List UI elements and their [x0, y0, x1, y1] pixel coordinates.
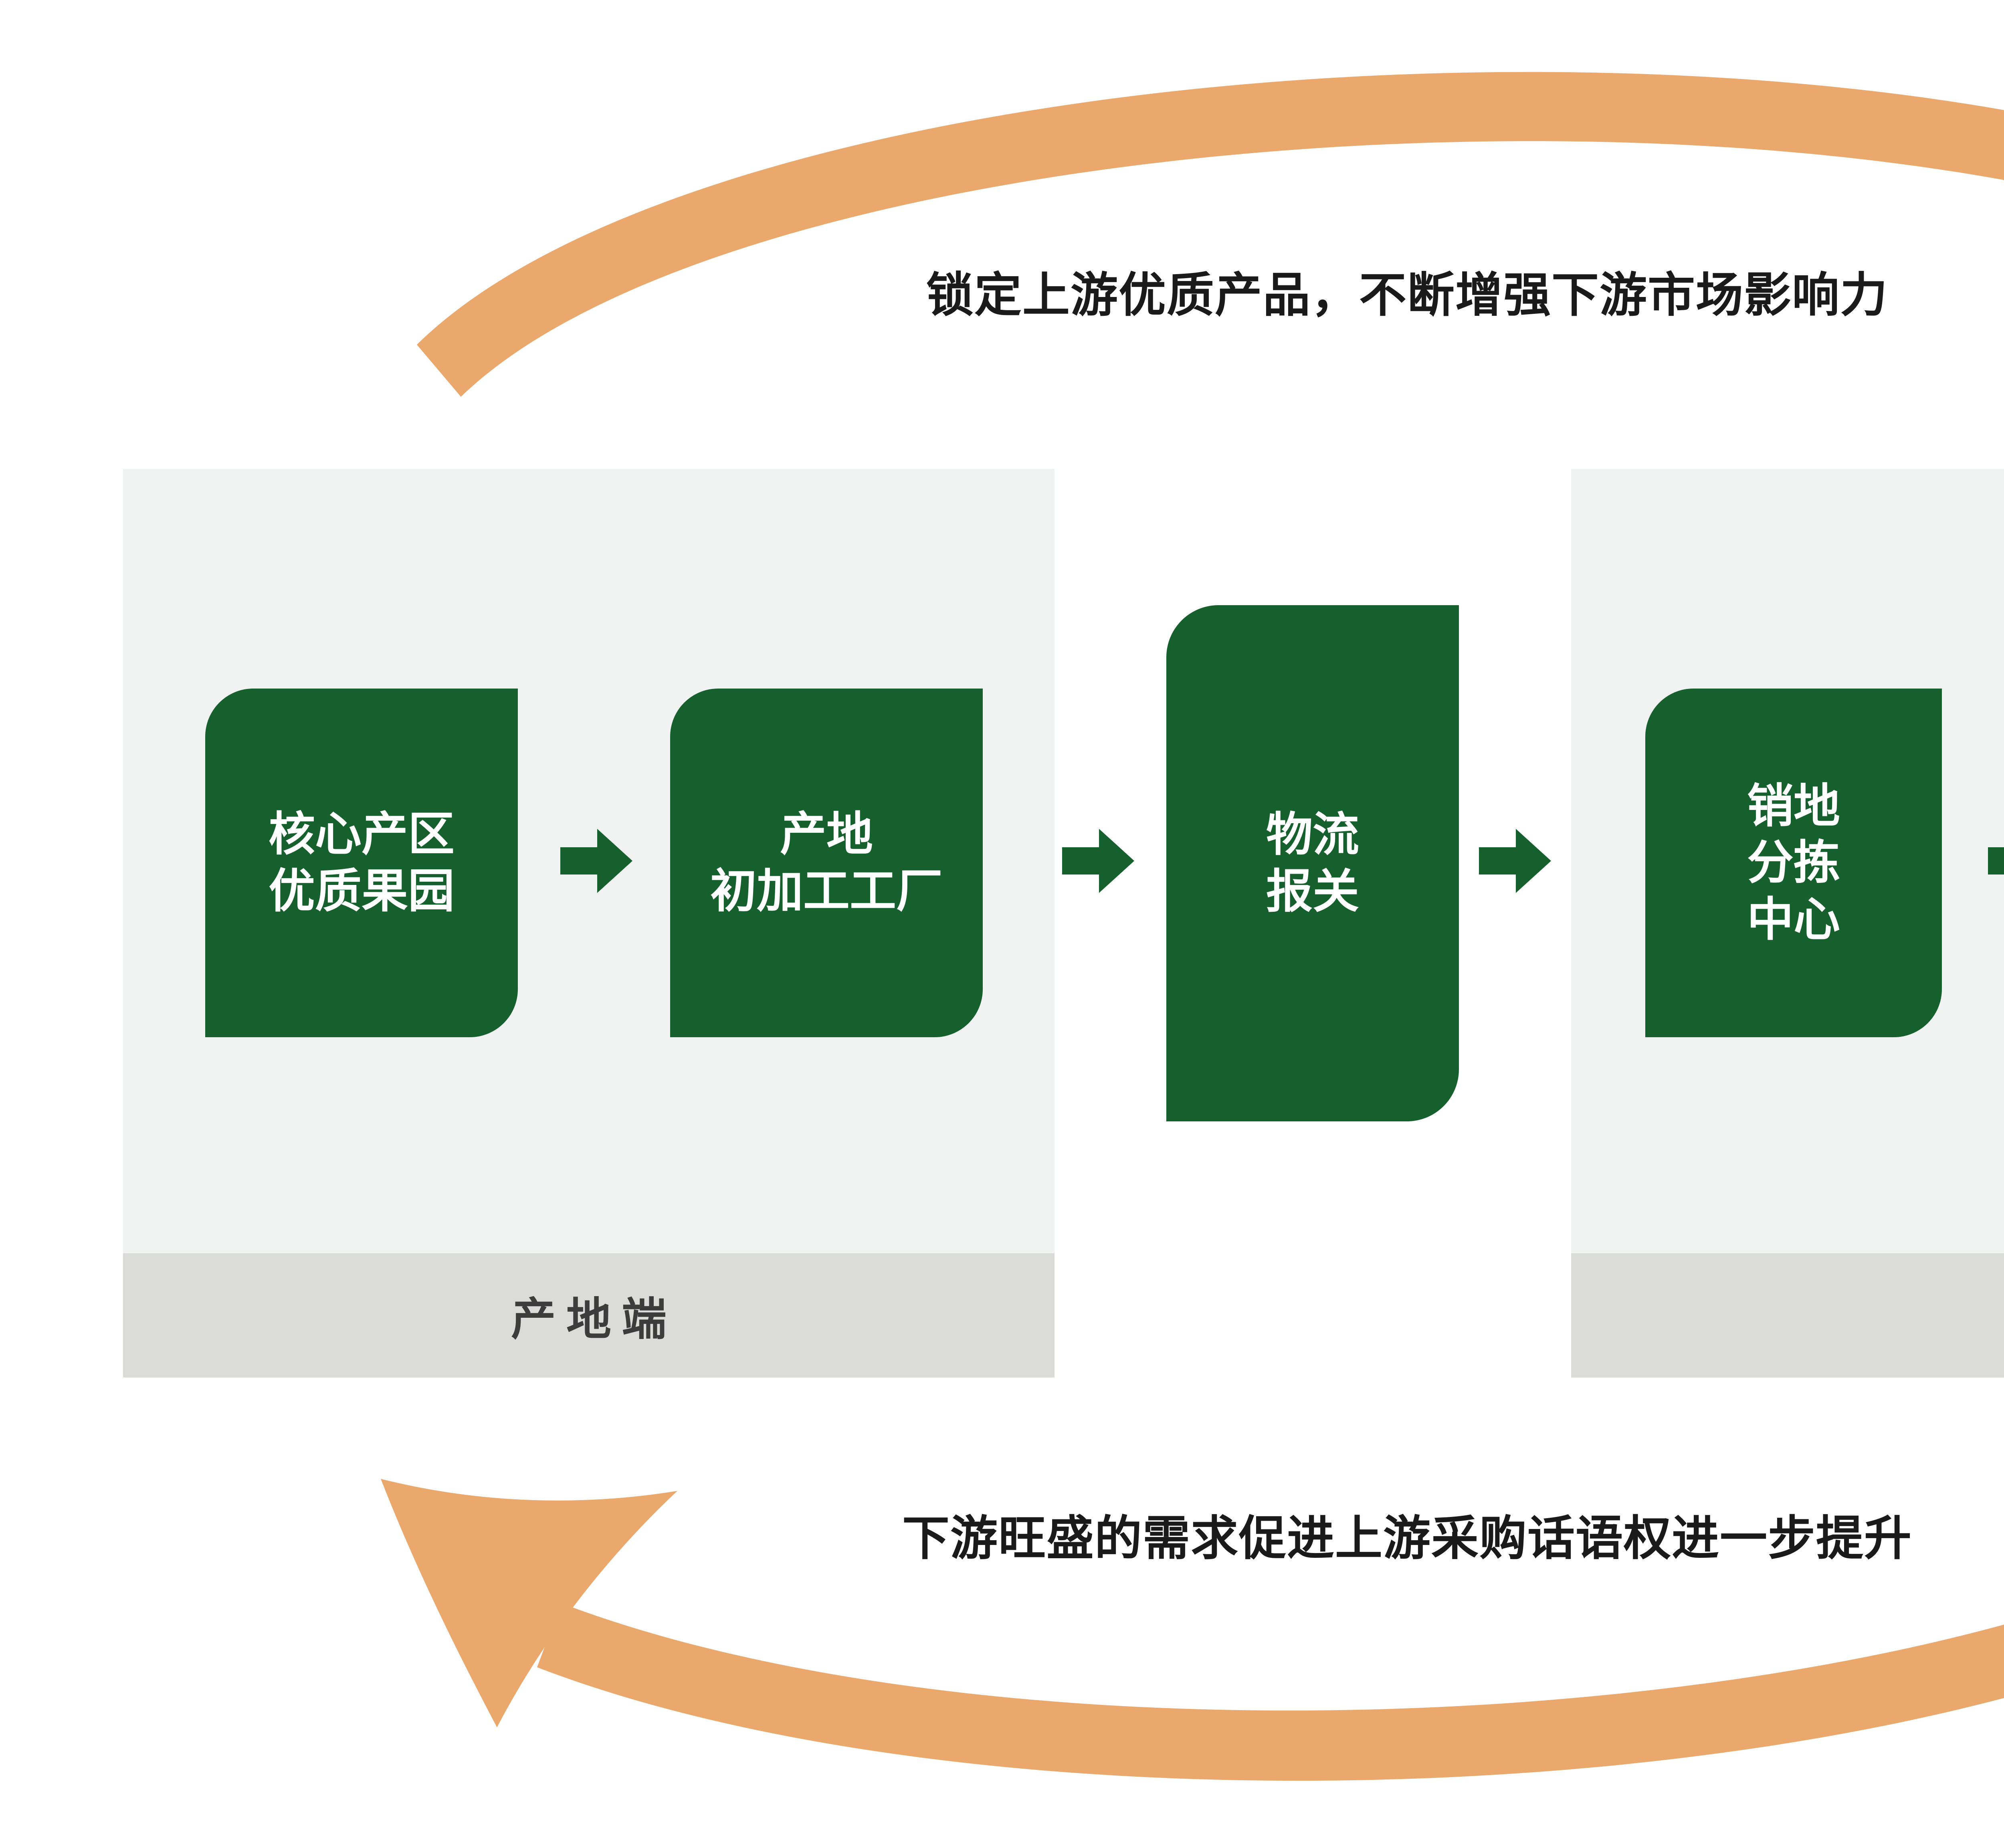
- right-arrow-icon: [1988, 829, 2004, 893]
- top-loop-caption: 锁定上游优质产品，不断增强下游市场影响力: [0, 256, 2004, 325]
- origin-panel-label: 产地端: [501, 1283, 677, 1348]
- right-arrow-icon: [1479, 829, 1551, 893]
- node-sorting-line3: 中心: [1747, 891, 1840, 948]
- origin-panel-footer: 产地端: [123, 1253, 1055, 1377]
- bottom-loop-caption: 下游旺盛的需求促进上游采购话语权进一步提升: [0, 1500, 2004, 1568]
- right-arrow-icon: [1062, 829, 1134, 893]
- node-sales-sorting-center[interactable]: 销地 分拣 中心: [1645, 689, 1942, 1037]
- node-primary-processing-factory[interactable]: 产地 初加工工厂: [670, 689, 983, 1037]
- node-factory-line1: 产地: [780, 806, 873, 863]
- node-logistics-line1: 物流: [1266, 806, 1359, 863]
- node-logistics-line2: 报关: [1266, 863, 1359, 920]
- supply-chain-diagram: 锁定上游优质产品，不断增强下游市场影响力 下游旺盛的需求促进上游采购话语权进一步…: [0, 0, 2004, 1848]
- node-sorting-line1: 销地: [1747, 778, 1840, 835]
- right-arrow-icon: [560, 829, 632, 893]
- curved-arrow-right-icon: [417, 72, 2004, 397]
- node-logistics-customs[interactable]: 物流 报关: [1166, 605, 1459, 1121]
- node-sorting-line2: 分拣: [1747, 834, 1840, 891]
- node-factory-line2: 初加工工厂: [710, 863, 943, 920]
- sales-panel-footer: 销地端: [1571, 1253, 2004, 1377]
- node-core-orchard-line2: 优质果园: [269, 863, 455, 920]
- node-core-orchard[interactable]: 核心产区 优质果园: [205, 689, 518, 1037]
- node-core-orchard-line1: 核心产区: [269, 806, 455, 863]
